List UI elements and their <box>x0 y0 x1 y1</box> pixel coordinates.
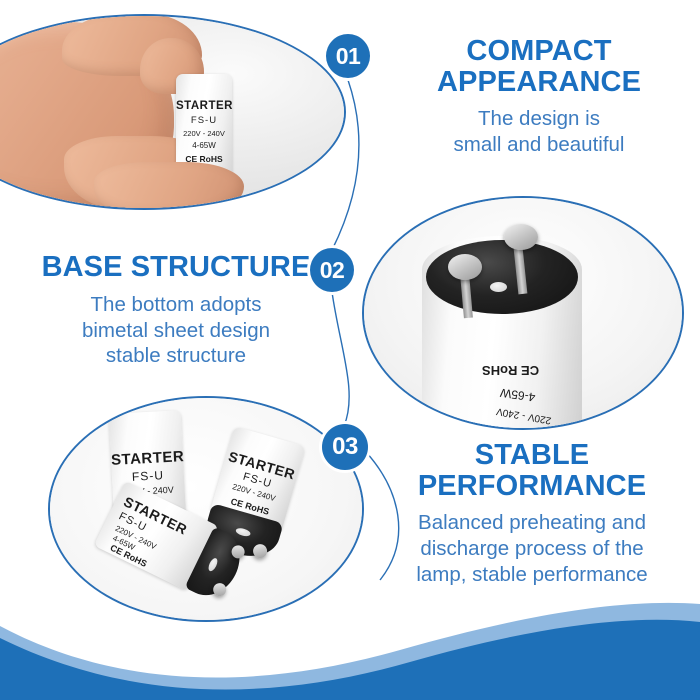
label-model: FS-U <box>112 467 185 485</box>
heading-line-2: APPEARANCE <box>396 67 682 98</box>
bottom-wave-decoration <box>0 540 700 700</box>
infographic-page: STARTER FS-U 220V - 240V 4-65W CE RoHS <box>0 0 700 700</box>
label-certification-flipped: CE RoHS <box>482 363 539 378</box>
bimetal-base-disc <box>426 240 578 314</box>
label-brand: STARTER <box>176 100 232 112</box>
label-model: FS-U <box>176 115 232 126</box>
vent-hole <box>490 282 507 292</box>
body-line-1: The design is <box>396 106 682 132</box>
body-line-2: small and beautiful <box>396 132 682 158</box>
heading-line-2: PERFORMANCE <box>380 471 684 502</box>
feature-body-02: The bottom adopts bimetal sheet design s… <box>34 292 318 369</box>
badge-number-03: 03 <box>322 424 368 470</box>
body-line-1: The bottom adopts <box>34 292 318 318</box>
feature-block-01: COMPACT APPEARANCE The design is small a… <box>396 36 682 158</box>
heading-line-1: BASE STRUCTURE <box>34 252 318 283</box>
label-voltage: 220V - 240V <box>176 129 232 138</box>
contact-pin-right <box>504 224 538 250</box>
feature-heading-01: COMPACT APPEARANCE <box>396 36 682 97</box>
contact-pin-left <box>448 254 482 280</box>
heading-line-1: STABLE <box>380 440 684 471</box>
badge-number-01: 01 <box>326 34 370 78</box>
body-line-2: bimetal sheet design <box>34 318 318 344</box>
body-line-3: stable structure <box>34 343 318 369</box>
feature-heading-03: STABLE PERFORMANCE <box>380 440 684 501</box>
photo-hand-holding-starter: STARTER FS-U 220V - 240V 4-65W CE RoHS <box>0 14 346 210</box>
label-brand: STARTER <box>111 448 184 469</box>
body-line-1: Balanced preheating and <box>380 510 684 536</box>
feature-body-01: The design is small and beautiful <box>396 106 682 158</box>
badge-number-02: 02 <box>310 248 354 292</box>
wave-dark <box>0 620 700 700</box>
supporting-finger <box>94 162 244 210</box>
feature-heading-02: BASE STRUCTURE <box>34 252 318 283</box>
photo-starter-base-top-view: CE RoHS 4-65W 220V - 240V <box>362 196 684 430</box>
feature-block-02: BASE STRUCTURE The bottom adopts bimetal… <box>34 252 318 369</box>
label-wattage: 4-65W <box>176 141 232 150</box>
heading-line-1: COMPACT <box>396 36 682 67</box>
